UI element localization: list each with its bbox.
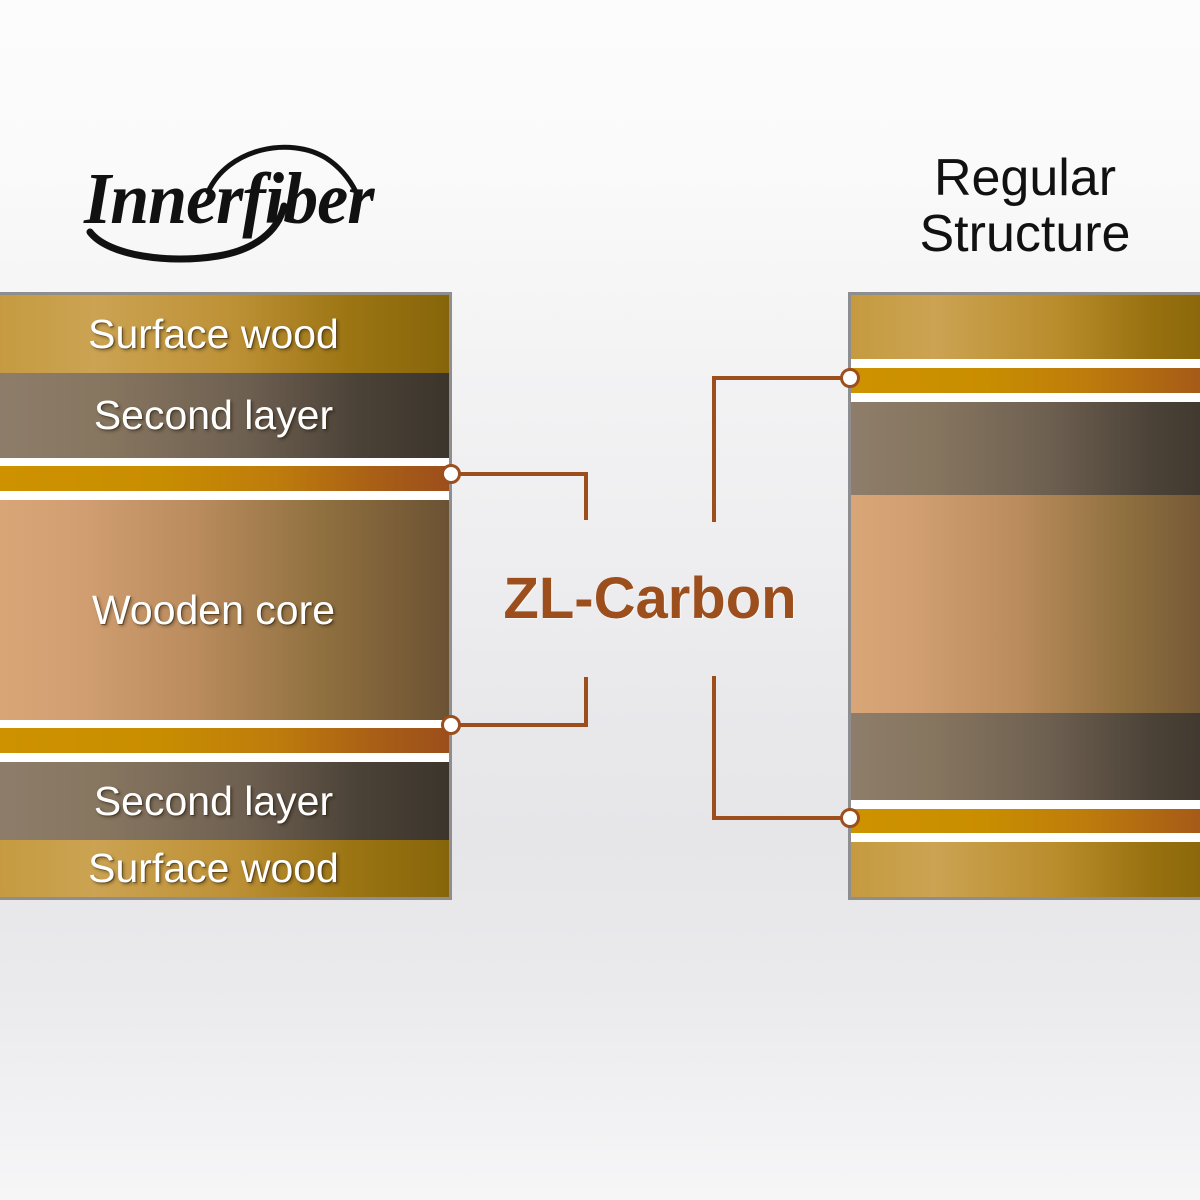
separator-gap [851,393,1200,402]
separator-gap [0,720,449,728]
connector-dot[interactable] [840,368,860,388]
layer-r-zl-carbon-top[interactable] [851,368,1200,393]
layer-label: Second layer [94,392,333,439]
connector-line [712,816,852,820]
connector-dot[interactable] [441,715,461,735]
layer-zl-carbon-top[interactable] [0,466,449,491]
connector-line [712,676,716,820]
logo-wordmark: Innerfiber [84,158,373,242]
layer-label: Second layer [94,778,333,825]
connector-line [712,376,716,522]
zl-carbon-label: ZL-Carbon [455,565,845,632]
regular-structure-panel [848,292,1200,900]
diagram-canvas: Innerfiber Regular Structure Surface woo… [0,0,1200,1200]
layer-wooden-core[interactable]: Wooden core [0,500,449,720]
layer-r-second-layer-bottom[interactable] [851,713,1200,800]
layer-second-layer-top[interactable]: Second layer [0,373,449,458]
connector-line [584,677,588,727]
connector-line [452,472,588,476]
layer-r-zl-carbon-bottom[interactable] [851,809,1200,833]
separator-gap [851,833,1200,842]
layer-r-surface-wood-bottom[interactable] [851,842,1200,897]
layer-surface-wood-bottom[interactable]: Surface wood [0,840,449,897]
innerfiber-logo: Innerfiber [78,140,378,270]
regular-structure-heading: Regular Structure [850,150,1200,262]
layer-r-second-layer-top[interactable] [851,402,1200,495]
separator-gap [0,491,449,500]
heading-line-2: Structure [850,206,1200,262]
layer-second-layer-bottom[interactable]: Second layer [0,762,449,840]
heading-line-1: Regular [934,149,1116,207]
separator-gap [0,753,449,762]
layer-label: Surface wood [88,311,339,358]
separator-gap [851,800,1200,809]
connector-dot[interactable] [441,464,461,484]
layer-label: Wooden core [92,587,335,634]
connector-line [584,472,588,520]
connector-line [712,376,852,380]
connector-line [452,723,588,727]
separator-gap [851,359,1200,368]
innerfiber-structure-panel: Surface wood Second layer Wooden core Se… [0,292,452,900]
layer-r-surface-wood-top[interactable] [851,295,1200,359]
separator-gap [0,458,449,466]
layer-surface-wood-top[interactable]: Surface wood [0,295,449,373]
layer-zl-carbon-bottom[interactable] [0,728,449,753]
connector-dot[interactable] [840,808,860,828]
layer-label: Surface wood [88,845,339,892]
layer-r-wooden-core[interactable] [851,495,1200,713]
